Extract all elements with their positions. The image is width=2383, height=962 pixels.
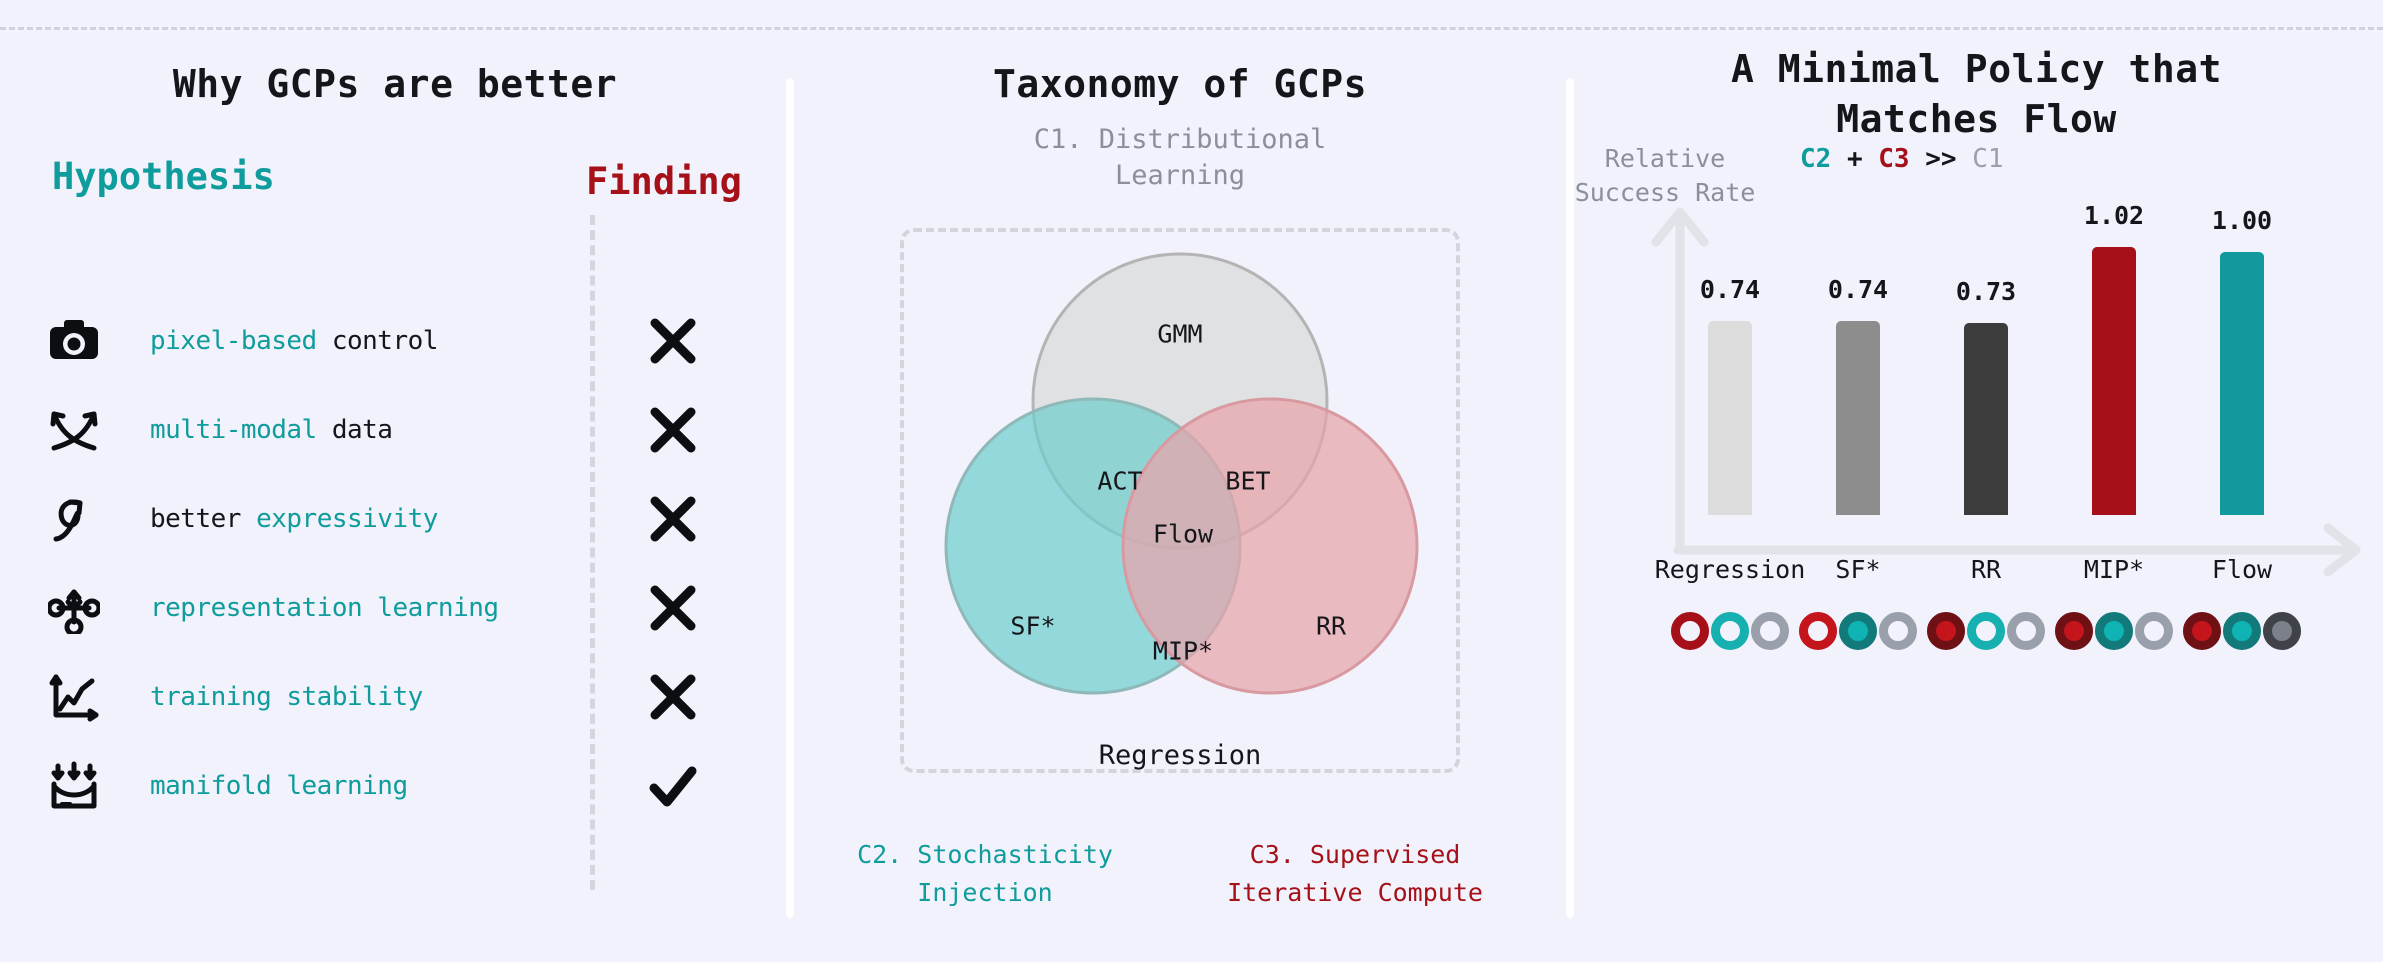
page-title-middle: Taxonomy of GCPs	[790, 62, 1570, 106]
category-c3-label: C3. SupervisedIterative Compute	[1160, 836, 1550, 912]
ring-indicator	[1671, 612, 1709, 650]
venn-region-label: BET	[1225, 467, 1270, 496]
hypothesis-label-highlight: training stability	[150, 682, 423, 712]
page-title-right: A Minimal Policy thatMatches Flow	[1570, 44, 2383, 144]
ring-indicator	[1799, 612, 1837, 650]
venn-diagram: GMMACTBETFlowSF*RRMIP*	[880, 226, 1480, 786]
annotation-c3: C3	[1878, 144, 1909, 174]
hypothesis-label: training stability	[150, 682, 423, 712]
x-axis-label: MIP*	[2084, 555, 2144, 584]
graph-nodes-icon	[48, 582, 100, 634]
hypothesis-label: better expressivity	[150, 504, 438, 534]
venn-region-label: SF*	[1010, 612, 1055, 641]
hypothesis-label-plain: better	[150, 504, 256, 534]
hypothesis-row: better expressivity	[0, 474, 790, 563]
hypothesis-label: multi-modal data	[150, 415, 392, 445]
venn-region-label: RR	[1316, 612, 1346, 641]
bar-column: 1.00	[2196, 206, 2288, 515]
hypothesis-row: manifold learning	[0, 741, 790, 830]
venn-region-label: MIP*	[1153, 637, 1213, 666]
ring-group-flow	[2183, 612, 2301, 650]
ring-indicator	[2223, 612, 2261, 650]
ring-indicator	[1927, 612, 1965, 650]
hypothesis-label-highlight: multi-modal	[150, 415, 317, 445]
crossing-arrows-icon	[48, 404, 100, 456]
ring-indicator	[1879, 612, 1917, 650]
venn-region-label: GMM	[1157, 320, 1202, 349]
ring-indicator	[2263, 612, 2301, 650]
ring-group-regression	[1671, 612, 1789, 650]
hypothesis-label-highlight: pixel-based	[150, 326, 317, 356]
ring-indicator	[2183, 612, 2221, 650]
manifold-icon	[48, 760, 100, 812]
cross-icon	[645, 491, 701, 547]
venn-outside-label-regression: Regression	[790, 740, 1570, 771]
ring-indicator	[1751, 612, 1789, 650]
ring-indicator	[1711, 612, 1749, 650]
hypothesis-row: multi-modal data	[0, 385, 790, 474]
hypothesis-row: pixel-based control	[0, 296, 790, 385]
comparison-annotation: C2 + C3 >> C1	[1800, 144, 2004, 174]
bar-column: 0.74	[1812, 275, 1904, 515]
x-axis-label: Flow	[2212, 555, 2272, 584]
cross-icon	[645, 580, 701, 636]
ring-group-rr	[1927, 612, 2045, 650]
ring-indicator	[1967, 612, 2005, 650]
annotation-c2: C2	[1800, 144, 1831, 174]
curly-arrow-icon	[48, 493, 100, 545]
annotation-c1: C1	[1972, 144, 2003, 174]
ring-indicator	[1839, 612, 1877, 650]
bar-value-label: 0.74	[1812, 275, 1904, 304]
hypothesis-label-highlight: representation learning	[150, 593, 499, 623]
hypothesis-list: pixel-based controlmulti-modal databette…	[0, 296, 790, 830]
ring-indicator	[2135, 612, 2173, 650]
bar-value-label: 1.00	[2196, 206, 2288, 235]
camera-icon	[48, 315, 100, 367]
ring-group-mipstar	[2055, 612, 2173, 650]
cross-icon	[645, 669, 701, 725]
x-axis-label: SF*	[1835, 555, 1880, 584]
annotation-plus: +	[1847, 144, 1863, 174]
hypothesis-label-highlight: manifold learning	[150, 771, 408, 801]
hypothesis-label: pixel-based control	[150, 326, 438, 356]
column-header-hypothesis: Hypothesis	[52, 155, 275, 198]
panel-taxonomy-of-gcps: Taxonomy of GCPs C1. DistributionalLearn…	[790, 0, 1570, 962]
category-c2-label: C2. StochasticityInjection	[810, 836, 1160, 912]
ring-indicator	[2055, 612, 2093, 650]
bar-column: 0.74	[1684, 275, 1776, 515]
venn-region-label: ACT	[1097, 467, 1142, 496]
bar-column: 0.73	[1940, 277, 2032, 515]
category-c1-label: C1. DistributionalLearning	[790, 122, 1570, 194]
venn-region-label: Flow	[1153, 520, 1213, 549]
ring-indicator	[2007, 612, 2045, 650]
x-axis-tick-labels: RegressionSF*RRMIP*Flow	[1680, 555, 2370, 595]
bar-value-label: 1.02	[2068, 201, 2160, 230]
bar	[1964, 323, 2008, 515]
x-axis-label: Regression	[1655, 555, 1806, 584]
criteria-ring-indicators	[1680, 612, 2370, 668]
cross-icon	[645, 313, 701, 369]
ring-indicator	[2095, 612, 2133, 650]
hypothesis-label-highlight: expressivity	[256, 504, 438, 534]
bar	[1836, 321, 1880, 515]
hypothesis-label: representation learning	[150, 593, 499, 623]
check-icon	[645, 758, 701, 814]
panel-why-gcps-are-better: Why GCPs are better Hypothesis Finding p…	[0, 0, 790, 962]
bar-value-label: 0.74	[1684, 275, 1776, 304]
cross-icon	[645, 402, 701, 458]
annotation-much-greater: >>	[1925, 144, 1956, 174]
bar	[2220, 252, 2264, 515]
panel-minimal-policy-chart: A Minimal Policy thatMatches Flow Relati…	[1570, 0, 2383, 962]
bar-series: 0.740.740.731.021.00	[1680, 180, 2370, 515]
line-chart-icon	[48, 671, 100, 723]
hypothesis-row: training stability	[0, 652, 790, 741]
page-title-left: Why GCPs are better	[0, 62, 790, 106]
hypothesis-label: manifold learning	[150, 771, 408, 801]
bar	[1708, 321, 1752, 515]
x-axis-label: RR	[1971, 555, 2001, 584]
hypothesis-label-suffix: data	[317, 415, 393, 445]
bar-value-label: 0.73	[1940, 277, 2032, 306]
hypothesis-row: representation learning	[0, 563, 790, 652]
column-header-finding: Finding	[586, 160, 742, 203]
bar-column: 1.02	[2068, 201, 2160, 515]
venn-svg	[880, 226, 1480, 786]
ring-group-sfstar	[1799, 612, 1917, 650]
bar	[2092, 247, 2136, 515]
hypothesis-label-suffix: control	[317, 326, 438, 356]
